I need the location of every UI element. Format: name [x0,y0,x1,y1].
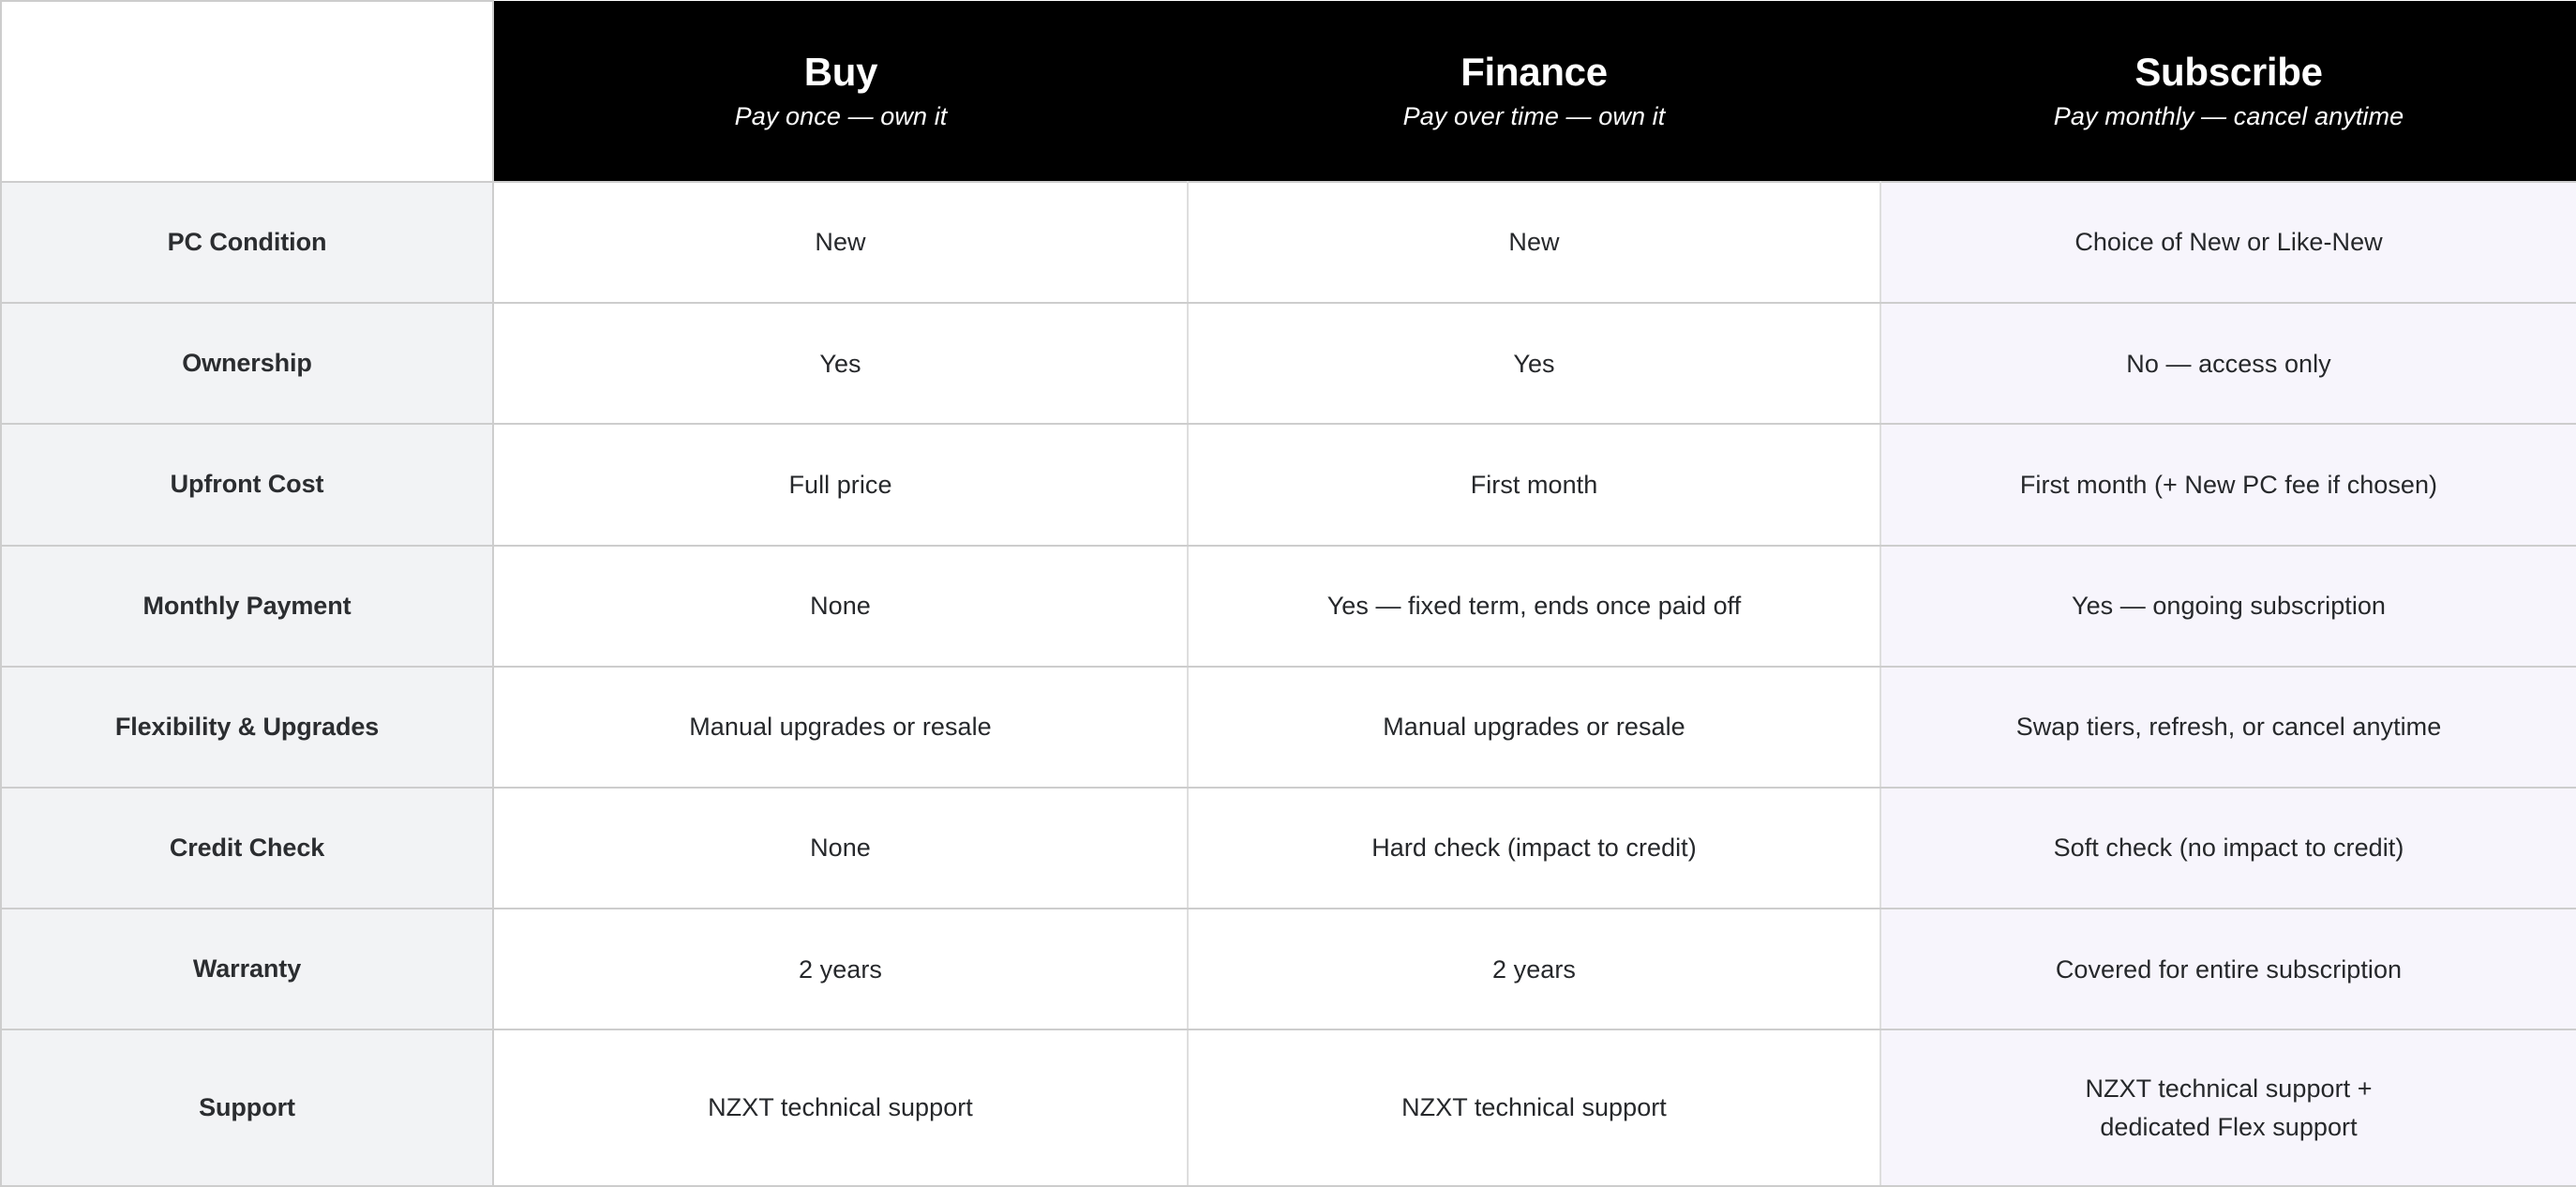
cell-finance-warranty: 2 years [1188,909,1880,1029]
cell-finance-upfront-cost: First month [1188,424,1880,545]
row-label-credit-check: Credit Check [1,788,493,909]
cell-finance-pc-condition: New [1188,182,1880,303]
cell-finance-credit-check: Hard check (impact to credit) [1188,788,1880,909]
row-label-monthly-payment: Monthly Payment [1,546,493,667]
plan-subtitle-subscribe: Pay monthly — cancel anytime [1903,101,2554,131]
column-header-buy: Buy Pay once — own it [493,1,1188,182]
cell-buy-warranty: 2 years [493,909,1188,1029]
cell-buy-ownership: Yes [493,303,1188,424]
cell-subscribe-ownership: No — access only [1880,303,2576,424]
plan-title-finance: Finance [1210,51,1858,93]
cell-buy-pc-condition: New [493,182,1188,303]
cell-finance-flexibility-upgrades: Manual upgrades or resale [1188,667,1880,788]
corner-cell [1,1,493,182]
row-label-ownership: Ownership [1,303,493,424]
header-row: Buy Pay once — own it Finance Pay over t… [1,1,2576,182]
table-header: Buy Pay once — own it Finance Pay over t… [1,1,2576,182]
table-row: Upfront Cost Full price First month Firs… [1,424,2576,545]
cell-subscribe-support-line2: dedicated Flex support [1906,1108,2552,1147]
plan-comparison-table: Buy Pay once — own it Finance Pay over t… [0,0,2576,1187]
column-header-subscribe: Subscribe Pay monthly — cancel anytime [1880,1,2576,182]
table-row: Monthly Payment None Yes — fixed term, e… [1,546,2576,667]
table-row: Ownership Yes Yes No — access only [1,303,2576,424]
cell-subscribe-support-line1: NZXT technical support + [1906,1070,2552,1108]
table-row: Flexibility & Upgrades Manual upgrades o… [1,667,2576,788]
cell-subscribe-monthly-payment: Yes — ongoing subscription [1880,546,2576,667]
cell-finance-ownership: Yes [1188,303,1880,424]
cell-finance-monthly-payment: Yes — fixed term, ends once paid off [1188,546,1880,667]
plan-subtitle-finance: Pay over time — own it [1210,101,1858,131]
cell-subscribe-upfront-cost: First month (+ New PC fee if chosen) [1880,424,2576,545]
table-row: PC Condition New New Choice of New or Li… [1,182,2576,303]
cell-subscribe-warranty: Covered for entire subscription [1880,909,2576,1029]
cell-subscribe-pc-condition: Choice of New or Like-New [1880,182,2576,303]
cell-subscribe-credit-check: Soft check (no impact to credit) [1880,788,2576,909]
cell-buy-credit-check: None [493,788,1188,909]
row-label-pc-condition: PC Condition [1,182,493,303]
column-header-finance: Finance Pay over time — own it [1188,1,1880,182]
table-row: Credit Check None Hard check (impact to … [1,788,2576,909]
plan-subtitle-buy: Pay once — own it [517,101,1165,131]
plan-title-subscribe: Subscribe [1903,51,2554,93]
cell-finance-support: NZXT technical support [1188,1029,1880,1186]
table-row: Warranty 2 years 2 years Covered for ent… [1,909,2576,1029]
cell-buy-upfront-cost: Full price [493,424,1188,545]
plan-title-buy: Buy [517,51,1165,93]
cell-buy-support: NZXT technical support [493,1029,1188,1186]
cell-buy-flexibility-upgrades: Manual upgrades or resale [493,667,1188,788]
row-label-flexibility-upgrades: Flexibility & Upgrades [1,667,493,788]
row-label-support: Support [1,1029,493,1186]
cell-subscribe-support: NZXT technical support + dedicated Flex … [1880,1029,2576,1186]
cell-subscribe-flexibility-upgrades: Swap tiers, refresh, or cancel anytime [1880,667,2576,788]
cell-buy-monthly-payment: None [493,546,1188,667]
table-row: Support NZXT technical support NZXT tech… [1,1029,2576,1186]
table-body: PC Condition New New Choice of New or Li… [1,182,2576,1186]
row-label-warranty: Warranty [1,909,493,1029]
row-label-upfront-cost: Upfront Cost [1,424,493,545]
